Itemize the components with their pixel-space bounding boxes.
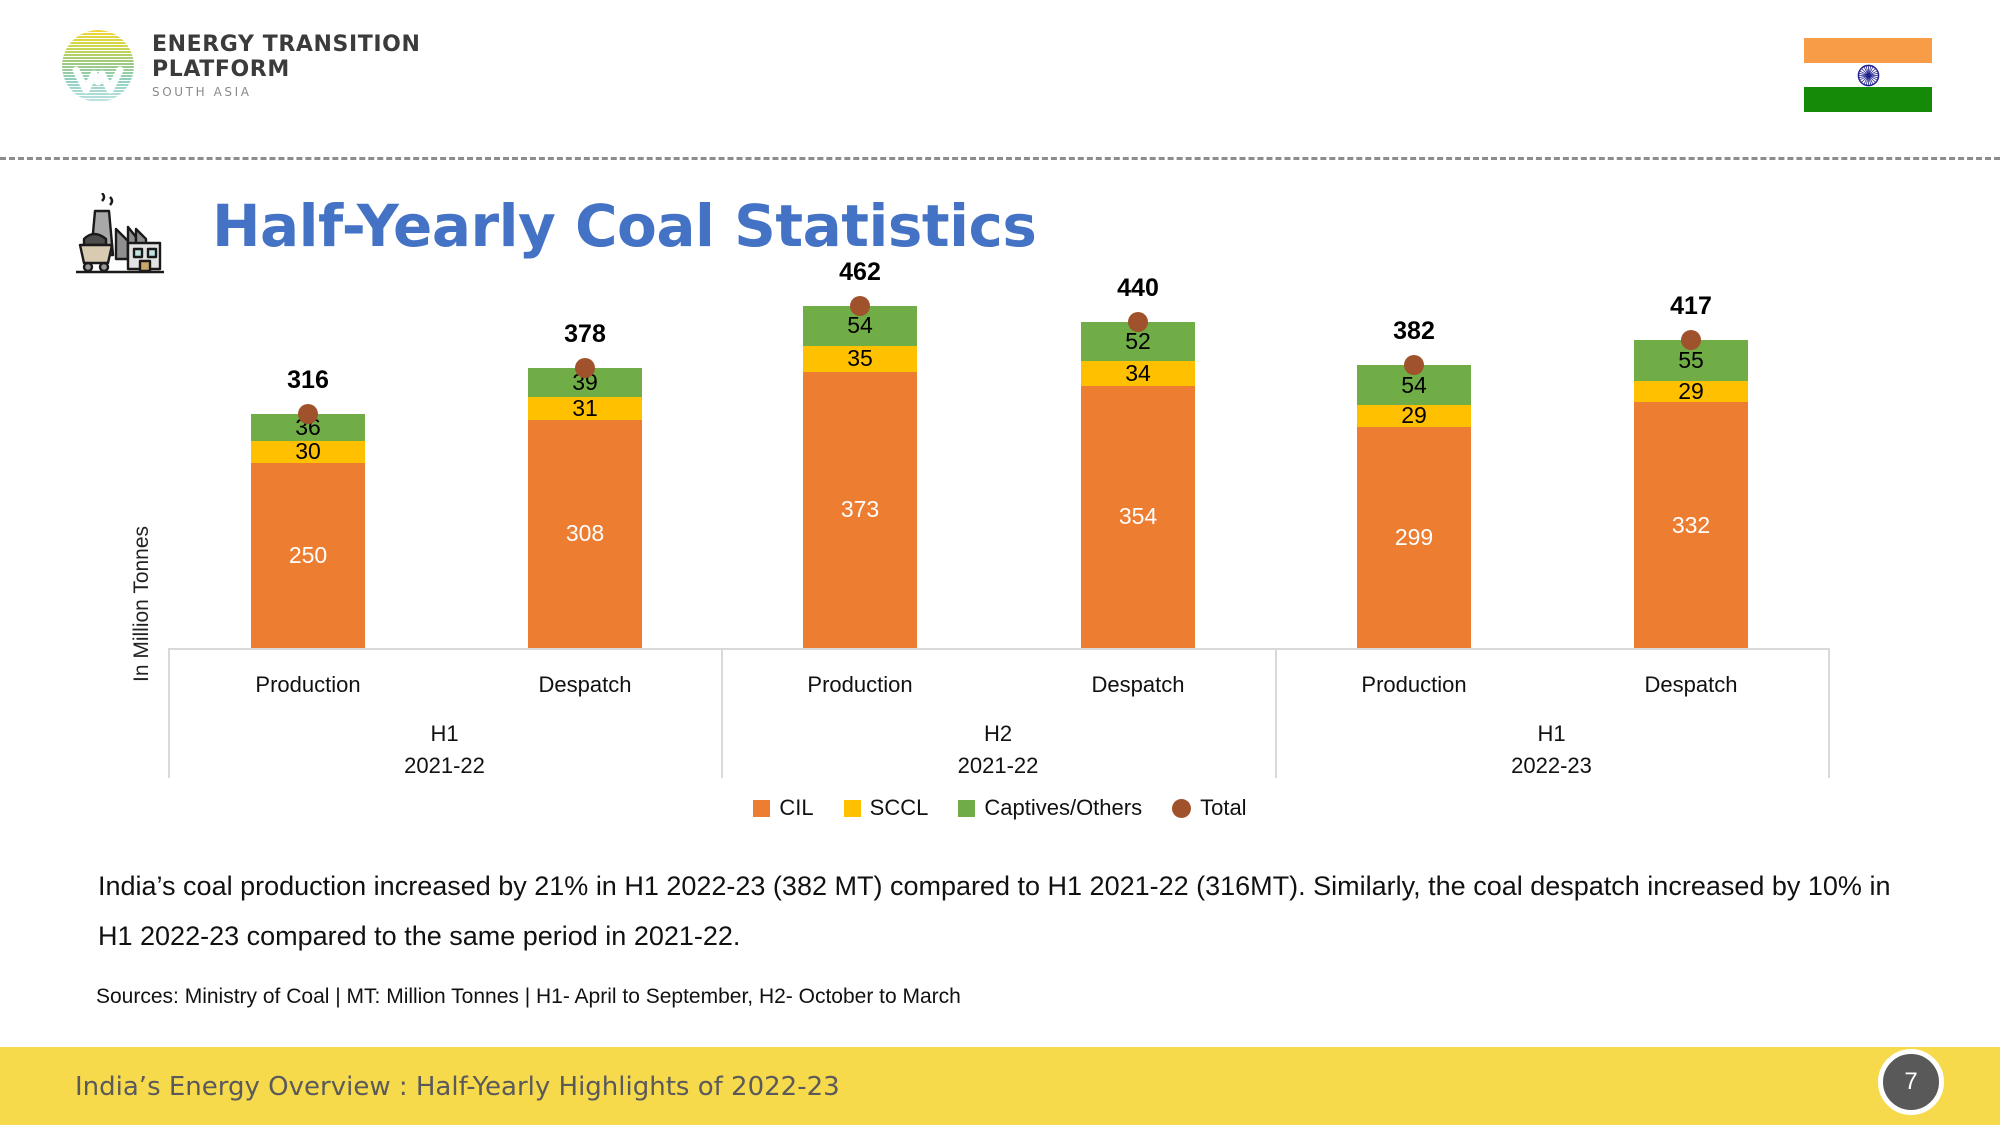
total-marker-dot (850, 296, 870, 316)
chart-plot-area: 3630250316393130837854353734625234354440… (168, 300, 1828, 648)
bar-segment-sccl: 29 (1634, 381, 1748, 402)
bar-production-4: 5429299 (1357, 365, 1471, 648)
chart-x-axis-line (168, 648, 1828, 650)
legend-label: SCCL (870, 795, 929, 821)
bar-segment-cil: 250 (251, 463, 365, 648)
legend-swatch-icon (753, 800, 770, 817)
x-axis-category-label: Despatch (1018, 672, 1258, 698)
bar-production-2: 5435373 (803, 306, 917, 648)
chart-legend: CILSCCLCaptives/OthersTotal (0, 795, 2000, 821)
bar-segment-sccl: 35 (803, 346, 917, 372)
legend-item-cil[interactable]: CIL (753, 795, 813, 821)
bar-segment-sccl: 30 (251, 441, 365, 463)
header-divider (0, 157, 2000, 160)
bar-segment-sccl: 34 (1081, 361, 1195, 386)
legend-item-sccl[interactable]: SCCL (844, 795, 929, 821)
bar-production-0: 3630250 (251, 414, 365, 648)
ashoka-chakra-icon (1857, 64, 1880, 87)
footer-title: India’s Energy Overview : Half-Yearly Hi… (75, 1072, 840, 1102)
bar-segment-cil: 332 (1634, 402, 1748, 648)
chart-y-axis-label: In Million Tonnes (130, 526, 154, 682)
bar-segment-cil: 308 (528, 420, 642, 648)
chart-group-label: H12022-23 (1275, 718, 1828, 782)
bar-despatch-1: 3931308 (528, 368, 642, 648)
logo-line-1: ENERGY TRANSITION (152, 33, 421, 58)
total-marker-dot (575, 358, 595, 378)
group-label-year: 2021-22 (721, 750, 1275, 782)
legend-item-captives-others[interactable]: Captives/Others (958, 795, 1142, 821)
chart-group-separator (1828, 648, 1830, 778)
coal-statistics-chart: In Million Tonnes 3630250316393130837854… (0, 300, 2000, 820)
bar-total-label: 382 (1357, 317, 1471, 346)
bar-despatch-5: 5529332 (1634, 340, 1748, 648)
x-axis-category-label: Production (740, 672, 980, 698)
page-title: Half-Yearly Coal Statistics (212, 192, 1036, 260)
group-label-period: H2 (721, 718, 1275, 750)
summary-paragraph: India’s coal production increased by 21%… (98, 862, 1928, 962)
total-marker-dot (1681, 330, 1701, 350)
x-axis-category-label: Production (188, 672, 428, 698)
legend-swatch-icon (844, 800, 861, 817)
group-label-year: 2022-23 (1275, 750, 1828, 782)
legend-swatch-icon (958, 800, 975, 817)
bar-total-label: 378 (528, 320, 642, 349)
coal-factory-icon (72, 193, 168, 277)
flag-band-saffron (1804, 38, 1932, 63)
group-label-year: 2021-22 (168, 750, 721, 782)
bar-total-label: 417 (1634, 292, 1748, 321)
bar-segment-sccl: 29 (1357, 405, 1471, 426)
bar-segment-cil: 354 (1081, 386, 1195, 648)
bar-despatch-3: 5234354 (1081, 322, 1195, 648)
legend-label: Total (1200, 795, 1246, 821)
page-number-badge: 7 (1878, 1049, 1944, 1115)
logo-line-2: PLATFORM (152, 58, 421, 83)
group-label-period: H1 (168, 718, 721, 750)
brand-logo: ENERGY TRANSITION PLATFORM SOUTH ASIA (62, 30, 421, 102)
bar-total-label: 462 (803, 258, 917, 287)
legend-label: CIL (779, 795, 813, 821)
india-flag-icon (1804, 38, 1932, 112)
x-axis-category-label: Production (1294, 672, 1534, 698)
bar-total-label: 316 (251, 366, 365, 395)
bar-segment-sccl: 31 (528, 397, 642, 420)
bar-segment-cil: 299 (1357, 427, 1471, 648)
sources-note: Sources: Ministry of Coal | MT: Million … (96, 985, 961, 1009)
legend-swatch-icon (1172, 799, 1191, 818)
chart-group-label: H22021-22 (721, 718, 1275, 782)
flag-band-green (1804, 87, 1932, 112)
legend-label: Captives/Others (984, 795, 1142, 821)
logo-line-3: SOUTH ASIA (152, 85, 421, 99)
x-axis-category-label: Despatch (1571, 672, 1811, 698)
group-label-period: H1 (1275, 718, 1828, 750)
bar-total-label: 440 (1081, 274, 1195, 303)
energy-transition-logo-icon (62, 30, 134, 102)
page-header: ENERGY TRANSITION PLATFORM SOUTH ASIA (0, 0, 2000, 152)
x-axis-category-label: Despatch (465, 672, 705, 698)
legend-item-total[interactable]: Total (1172, 795, 1246, 821)
total-marker-dot (298, 404, 318, 424)
chart-group-label: H12021-22 (168, 718, 721, 782)
bar-segment-cil: 373 (803, 372, 917, 648)
